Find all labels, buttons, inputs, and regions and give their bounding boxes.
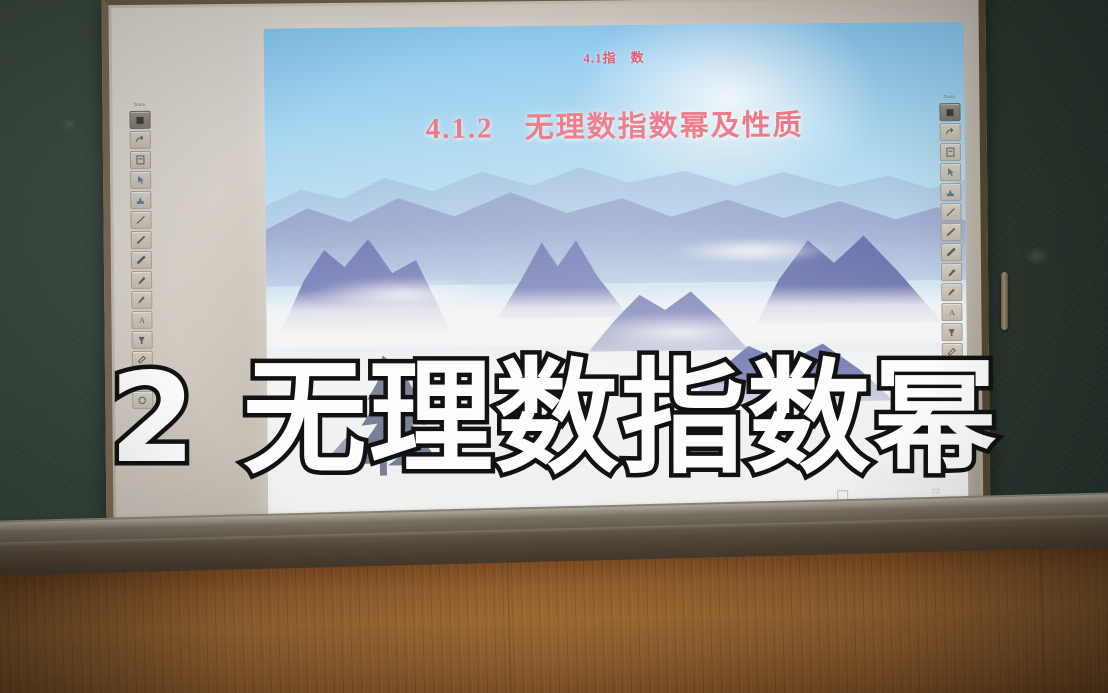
board-frame-handle[interactable]: [1001, 272, 1008, 330]
video-caption-overlay: 2 无理数指数幂: [109, 357, 998, 481]
classroom-scene: 4.1指 数 4.1.2 无理数指数幂及性质 22 2021/11/30 Too…: [0, 0, 1108, 693]
